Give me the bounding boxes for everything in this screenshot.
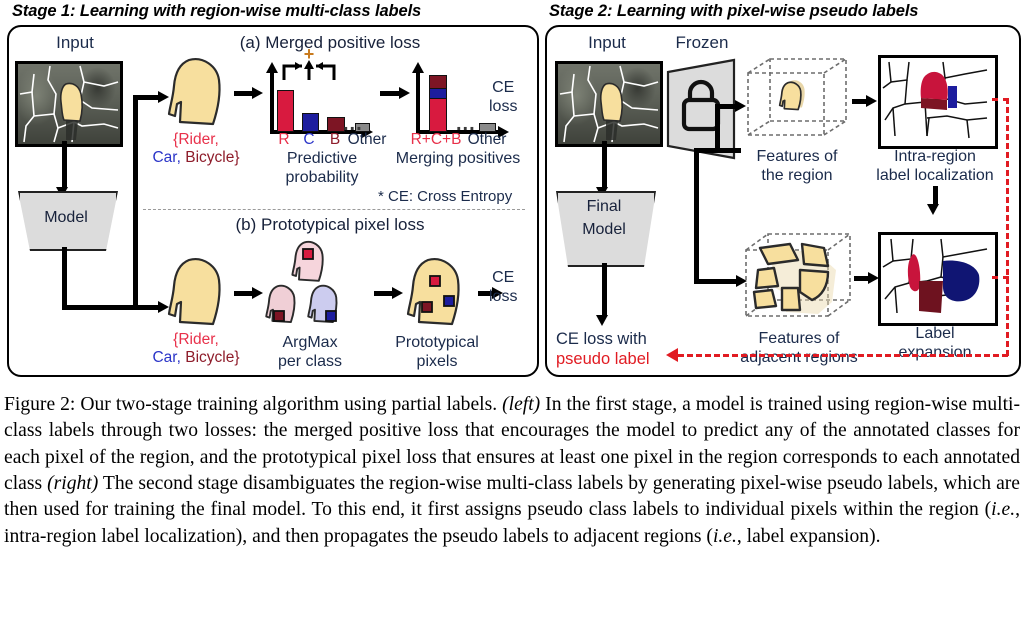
final-model-label-l2: Model: [556, 221, 652, 239]
pseudo-label-text: pseudo label: [556, 350, 650, 369]
prototypical-caption: Prototypical pixels: [395, 334, 479, 372]
chart-a-tick-B: B: [330, 131, 340, 149]
arrow-charta-to-chartb-head: [399, 87, 410, 99]
chart-a-plus: +: [304, 44, 315, 65]
arrowhead-finalmodel-to-celoss: [596, 315, 608, 326]
final-model-label-l1: Final: [556, 198, 652, 216]
arrow-blob-to-charta-head: [252, 87, 263, 99]
features-adjacent-cube: [744, 230, 856, 328]
argmax-caption-l1: ArgMax: [278, 334, 342, 353]
frozen-label: Frozen: [676, 33, 729, 52]
features-adj-l2: adjacent regions: [740, 349, 857, 368]
caption-segment: (left): [502, 394, 540, 415]
stage2-input-photo: [555, 61, 663, 147]
arrow-blobb-to-argmax-head: [252, 287, 263, 299]
argmax-blobs: [264, 240, 374, 334]
intra-region-caption: Intra-region label localization: [876, 148, 993, 186]
pseudo-feedback-arrowhead: [666, 348, 678, 362]
class-label-bicycle-a: Bicycle}: [185, 149, 239, 166]
bar-R: [277, 90, 294, 132]
bar-merged-B: [429, 75, 447, 89]
label-expansion-caption: Label expansion: [899, 325, 972, 363]
arrow-to-cube1-head: [735, 100, 746, 112]
prototypical-blob: [404, 256, 474, 330]
chart-b-tick-merged: R+C+B: [411, 131, 462, 149]
stage1-classes-a: {Rider, Car, Bicycle}: [152, 131, 239, 168]
section-b-title: (b) Prototypical pixel loss: [236, 215, 425, 234]
pseudo-feedback-vertical: [1006, 98, 1009, 356]
class-label-car-a: Car,: [152, 149, 185, 166]
encoder-bus-up: [715, 104, 720, 152]
model-output-bus-bottom: [62, 305, 138, 310]
pseudo-feedback-bottom: [678, 354, 1008, 357]
chart-a-tick-Other: Other: [348, 131, 387, 149]
branch-b-line: [133, 305, 160, 310]
stage1-model-label: Model: [18, 209, 114, 227]
features-adjacent-caption: Features of adjacent regions: [740, 330, 857, 368]
features-region-cube: [746, 55, 852, 147]
branch-a-line: [133, 95, 160, 100]
caption-segment: Figure 2: Our two-stage training algorit…: [4, 394, 502, 415]
argmax-caption: ArgMax per class: [278, 334, 342, 372]
encoder-output-stem: [694, 152, 699, 284]
intra-region-panel: [878, 55, 998, 149]
class-label-rider-a: {Rider,: [173, 131, 219, 148]
stage1-input-photo: [15, 61, 123, 147]
arrow-blob-to-charta-line: [234, 91, 254, 96]
chart-a-caption-l1: Predictive: [286, 150, 359, 169]
features-adj-l1: Features of: [740, 330, 857, 349]
arrow-cube1-to-intra-head: [866, 95, 877, 107]
chart-b-caption: Merging positives: [396, 150, 521, 168]
stage1-title: Stage 1: Learning with region-wise multi…: [12, 2, 421, 21]
chart-b-tick-Other: Other: [468, 131, 507, 149]
caption-segment: i.e.: [713, 526, 737, 547]
features-region-l1: Features of: [757, 148, 838, 167]
arrow-input-to-model: [62, 141, 67, 189]
stage1-classes-b: {Rider, Car, Bicycle}: [152, 331, 239, 368]
arrow-argmax-to-proto-line: [374, 291, 394, 296]
ce-loss-with-label: CE loss with: [556, 330, 647, 349]
region-blob-b: [165, 256, 231, 330]
bar-merged-R: [429, 95, 447, 132]
features-region-caption: Features of the region: [757, 148, 838, 186]
label-expansion-l1: Label: [899, 325, 972, 344]
caption-segment: The second stage disambiguates the regio…: [4, 473, 1020, 520]
stage2-input-label: Input: [588, 33, 626, 52]
figure-caption: Figure 2: Our two-stage training algorit…: [4, 392, 1020, 550]
caption-segment: (right): [47, 473, 98, 494]
caption-segment: , label expansion).: [737, 526, 881, 547]
intra-region-l1: Intra-region: [876, 148, 993, 167]
arrow-intra-to-expansion-head: [927, 204, 939, 215]
stage1-footnote: * CE: Cross Entropy: [378, 188, 512, 205]
chart-a-tick-C: C: [303, 131, 314, 149]
chart-a-tick-R: R: [278, 131, 289, 149]
chart-a-caption: Predictive probability: [286, 150, 359, 188]
features-region-l2: the region: [757, 167, 838, 186]
arrow-to-cube1-line: [715, 104, 737, 109]
model-output-stem: [62, 247, 67, 310]
ce-loss-b: CE loss: [489, 268, 517, 306]
arrow-finalmodel-to-celoss: [602, 263, 607, 317]
ce-loss-a-l1: CE: [489, 78, 517, 97]
stage2-title: Stage 2: Learning with pixel-wise pseudo…: [549, 2, 918, 21]
chart-a-caption-l2: probability: [286, 169, 359, 188]
label-expansion-panel: [878, 232, 998, 326]
ce-loss-a-l2: loss: [489, 97, 517, 116]
class-label-car-b: Car,: [152, 349, 185, 366]
intra-region-l2: label localization: [876, 167, 993, 186]
region-blob-a: [165, 56, 231, 130]
pseudo-feedback-mid-segment: [992, 276, 1009, 279]
stage1-section-divider: [143, 209, 525, 210]
arrow-input2-to-finalmodel: [602, 141, 607, 189]
ce-loss-a: CE loss: [489, 78, 517, 116]
model-output-bus-vertical: [133, 95, 138, 310]
arrow-blobb-to-argmax-line: [234, 291, 254, 296]
arrow-intra-to-expansion-line: [933, 186, 938, 206]
ce-loss-b-l1: CE: [489, 268, 517, 287]
bar-C: [302, 113, 319, 132]
arrow-argmax-to-proto-head: [392, 287, 403, 299]
chart-predictive-probability: ... +: [266, 62, 374, 140]
arrow-to-cube2-line: [694, 279, 738, 284]
arrow-charta-to-chartb-line: [380, 91, 401, 96]
class-label-bicycle-b: Bicycle}: [185, 349, 239, 366]
class-label-rider-b: {Rider,: [173, 331, 219, 348]
proto-caption-l2: pixels: [395, 353, 479, 372]
argmax-caption-l2: per class: [278, 353, 342, 372]
ce-loss-b-l2: loss: [489, 287, 517, 306]
stage1-input-label: Input: [56, 33, 94, 52]
caption-segment: i.e.: [991, 499, 1015, 520]
figure-root: Stage 1: Learning with region-wise multi…: [0, 0, 1024, 626]
proto-caption-l1: Prototypical: [395, 334, 479, 353]
